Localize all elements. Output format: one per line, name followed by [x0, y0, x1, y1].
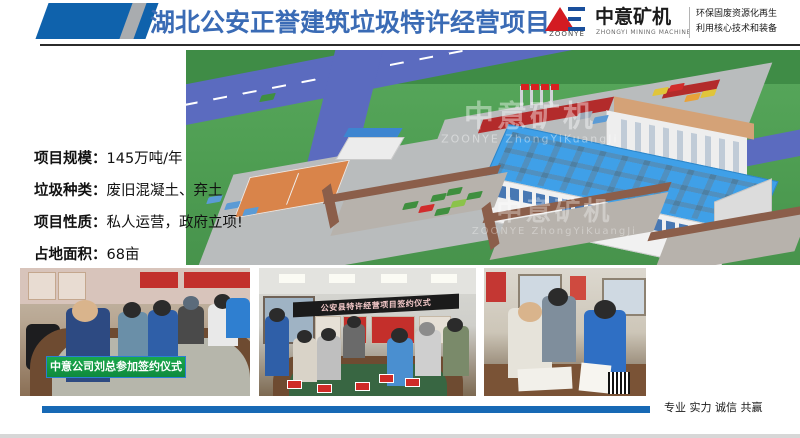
spec-value: 私人运营，政府立项! [107, 215, 243, 231]
spec-value: 68亩 [107, 247, 140, 263]
gatehouse-building [346, 128, 400, 158]
person-head [123, 302, 141, 318]
spec-value: 废旧混凝土、弃土 [107, 183, 223, 199]
person [443, 326, 469, 376]
bin-wall [482, 202, 500, 251]
spec-label: 项目性质： [34, 215, 107, 231]
gatehouse-roof [343, 128, 402, 137]
person [178, 306, 204, 344]
wall-red-banner [140, 272, 178, 288]
person [317, 336, 341, 380]
wall-poster [58, 272, 86, 300]
person-head [72, 300, 98, 322]
photo-document-signing [484, 268, 646, 396]
logo-tagline-line2: 利用核心技术和装备 [696, 22, 792, 37]
person [148, 310, 178, 356]
person-head [447, 318, 463, 332]
qr-code [608, 372, 630, 394]
name-card [405, 378, 420, 387]
person [118, 312, 148, 360]
photo-caption: 中意公司刘总参加签约仪式 [46, 356, 186, 378]
spec-row: 项目性质：私人运营，政府立项! [34, 207, 294, 239]
blue-e-icon [568, 7, 585, 31]
person [265, 316, 289, 376]
wall-red-banner [486, 272, 506, 302]
person-head [419, 322, 435, 336]
person [343, 324, 365, 358]
slide-bottom-edge [0, 434, 800, 438]
person-head [391, 328, 408, 343]
document [579, 363, 612, 394]
person [415, 330, 441, 376]
logo-tagline: 环保固废资源化再生 利用核心技术和装备 [696, 7, 792, 37]
logo-tagline-line1: 环保固废资源化再生 [696, 7, 792, 22]
slide-header: 湖北公安正誉建筑垃圾特许经营项目 ZOONYE 中意矿机 ZHONGYI MIN… [0, 0, 800, 50]
person-head [321, 328, 336, 341]
document [517, 367, 572, 392]
name-card [355, 382, 370, 391]
person [293, 338, 317, 382]
name-card [287, 380, 302, 389]
person-head [297, 330, 312, 343]
logo-chinese-name: 中意矿机 [595, 6, 671, 28]
spec-label: 项目规模： [34, 151, 107, 167]
page-title: 湖北公安正誉建筑垃圾特许经营项目 [150, 6, 540, 40]
logo-english-name: ZHONGYI MINING MACHINE [596, 29, 691, 36]
person-head [347, 316, 361, 328]
name-card [379, 374, 394, 383]
wall-red-banner [216, 272, 250, 288]
person-head [183, 296, 199, 310]
person-head [269, 308, 285, 322]
photo-signing-ceremony-table: 中意公司刘总参加签约仪式 [20, 268, 250, 396]
person-head [548, 288, 568, 306]
header-divider [40, 44, 800, 46]
aggregate-storage-bins [326, 180, 796, 265]
logo-pinyin: ZOONYE [543, 30, 591, 38]
presentation-slide: 湖北公安正誉建筑垃圾特许经营项目 ZOONYE 中意矿机 ZHONGYI MIN… [0, 0, 800, 438]
footer-accent-bar [42, 406, 650, 413]
photo-strip: 中意公司刘总参加签约仪式 公安县特许经营项目签约仪式 [0, 268, 800, 398]
footer-slogan: 专业 实力 诚信 共赢 [664, 399, 794, 417]
person [226, 298, 250, 338]
gatehouse-wall [335, 137, 404, 160]
spec-row: 占地面积：68亩 [34, 239, 294, 271]
name-card [317, 384, 332, 393]
person-head [594, 300, 616, 319]
company-logo: ZOONYE 中意矿机 ZHONGYI MINING MACHINE 环保固废资… [543, 4, 793, 42]
person-head [153, 300, 171, 316]
spec-label: 占地面积： [34, 247, 107, 263]
person-head [518, 302, 542, 322]
wall-poster [28, 272, 56, 300]
spec-row: 项目规模：145万吨/年 [34, 143, 294, 175]
logo-divider [689, 7, 690, 38]
project-spec-list: 项目规模：145万吨/年 垃圾种类：废旧混凝土、弃土 项目性质：私人运营，政府立… [34, 143, 294, 271]
spec-row: 垃圾种类：废旧混凝土、弃土 [34, 175, 294, 207]
spec-value: 145万吨/年 [107, 151, 183, 167]
spec-label: 垃圾种类： [34, 183, 107, 199]
photo-meeting-room: 公安县特许经营项目签约仪式 [259, 268, 476, 396]
ceiling [259, 268, 476, 294]
